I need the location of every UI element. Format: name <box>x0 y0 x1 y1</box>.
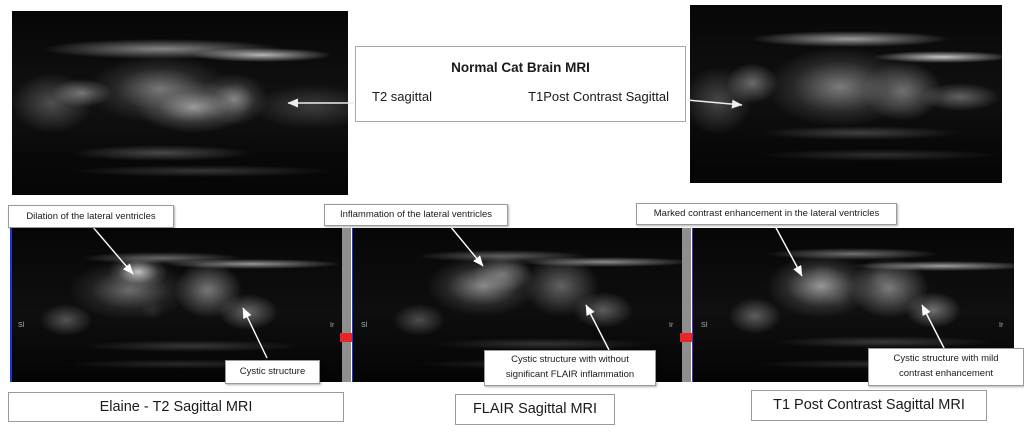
annotation-text-line2: contrast enhancement <box>899 367 993 382</box>
mri-scan-content <box>12 228 344 382</box>
mri-scan-content <box>12 11 348 195</box>
annotation-flair-cyst: Cystic structure with without significan… <box>484 350 656 386</box>
annotation-t1post-cyst: Cystic structure with mild contrast enha… <box>868 348 1024 386</box>
annotation-t2-cyst: Cystic structure <box>225 360 320 384</box>
panel-flair-side-label-left: Sl <box>361 322 367 329</box>
panel-t1post-side-label-right: Ir <box>999 322 1003 329</box>
annotation-text-line1: Cystic structure with without <box>511 353 629 368</box>
caption-panel-t2: Elaine - T2 Sagittal MRI <box>8 392 344 422</box>
mri-figure: Normal Cat Brain MRI T2 sagittal T1Post … <box>0 0 1024 439</box>
panel-t2-side-label-right: Ir <box>330 322 334 329</box>
annotation-t1post-ventricles: Marked contrast enhancement in the later… <box>636 203 897 225</box>
annotation-t2-ventricles: Dilation of the lateral ventricles <box>8 205 174 228</box>
normal-cat-brain-title-box: Normal Cat Brain MRI T2 sagittal T1Post … <box>355 46 686 122</box>
normal-brain-right-label: T1Post Contrast Sagittal <box>528 89 669 104</box>
panel-divider-bar-1 <box>342 228 351 382</box>
annotation-flair-ventricles: Inflammation of the lateral ventricles <box>324 204 508 226</box>
caption-text: Elaine - T2 Sagittal MRI <box>92 395 261 419</box>
annotation-text-line2: significant FLAIR inflammation <box>506 368 634 383</box>
normal-brain-left-label: T2 sagittal <box>372 89 432 104</box>
normal-brain-title: Normal Cat Brain MRI <box>356 60 685 75</box>
normal-cat-brain-t2-sagittal-image <box>12 11 348 195</box>
caption-panel-flair: FLAIR Sagittal MRI <box>455 394 615 425</box>
annotation-text: Inflammation of the lateral ventricles <box>334 207 498 223</box>
annotation-text-line1: Cystic structure with mild <box>893 352 998 367</box>
panel-flair-side-label-right: Ir <box>669 322 673 329</box>
annotation-text: Cystic structure <box>234 364 311 380</box>
panel-t1post-side-label-left: Sl <box>701 322 707 329</box>
panel-t2-image: Sl Ir <box>10 228 344 382</box>
caption-text: FLAIR Sagittal MRI <box>465 397 605 421</box>
annotation-text: Dilation of the lateral ventricles <box>20 209 161 225</box>
mri-scan-content <box>690 5 1002 183</box>
panel-t2-side-label-left: Sl <box>18 322 24 329</box>
caption-text: T1 Post Contrast Sagittal MRI <box>765 393 973 417</box>
annotation-text: Marked contrast enhancement in the later… <box>648 206 885 222</box>
caption-panel-t1post: T1 Post Contrast Sagittal MRI <box>751 390 987 421</box>
panel-divider-bar-2 <box>682 228 691 382</box>
normal-cat-brain-t1post-sagittal-image <box>690 5 1002 183</box>
